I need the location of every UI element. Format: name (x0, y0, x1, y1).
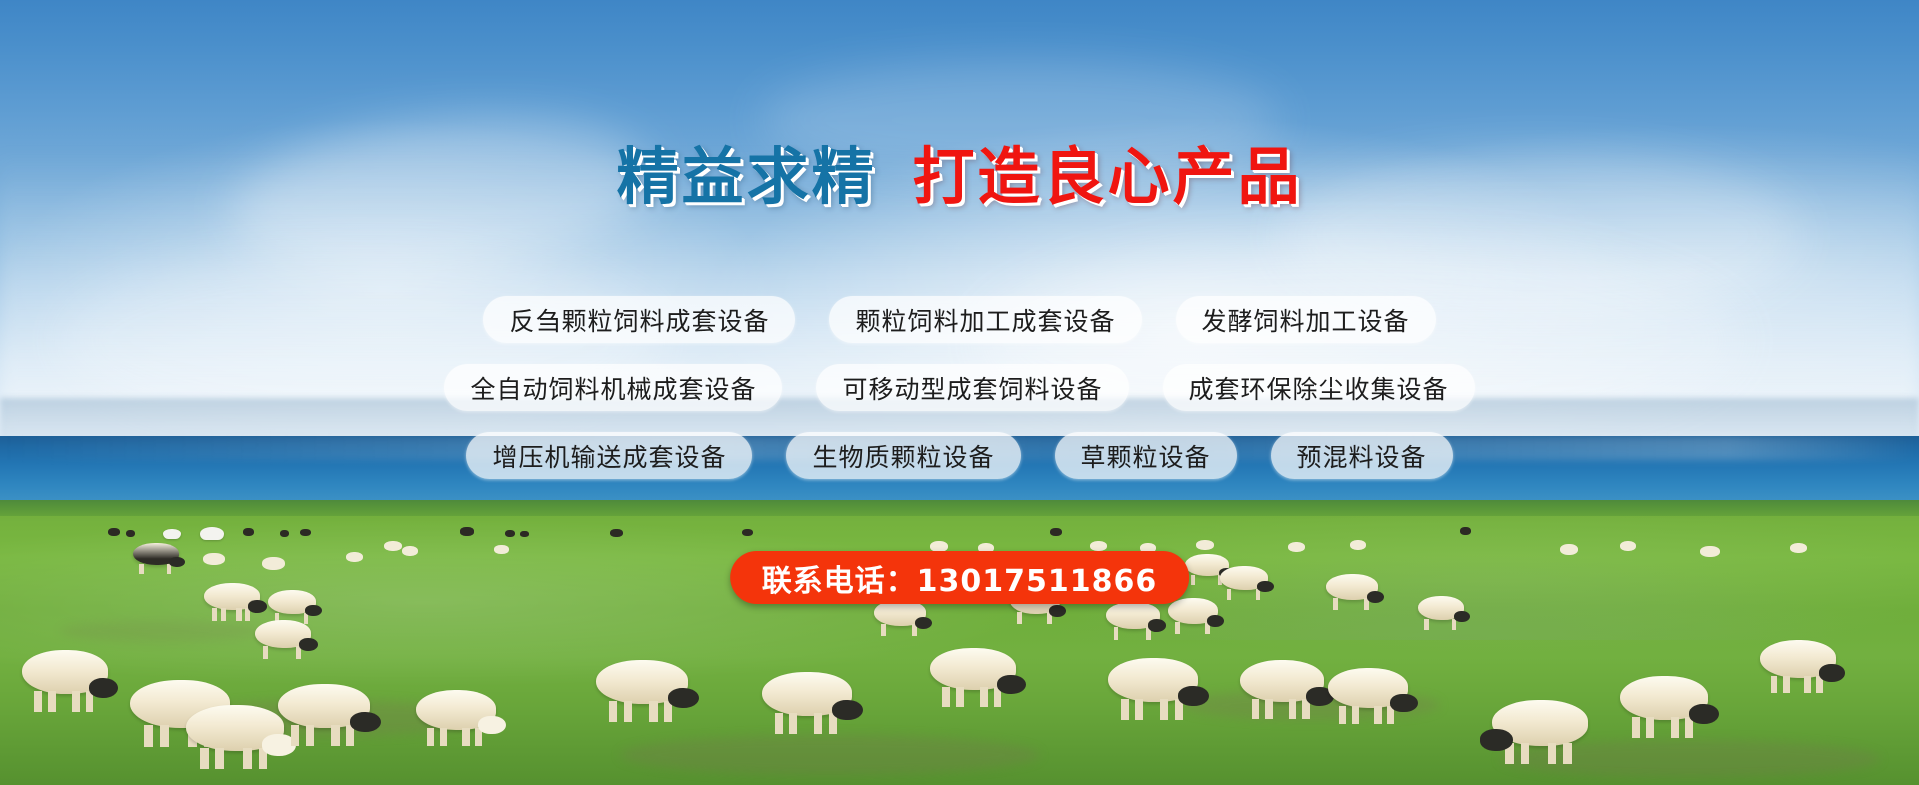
distant-sheep (346, 552, 363, 562)
dirt-patch (620, 735, 1040, 775)
distant-sheep (402, 546, 418, 556)
distant-livestock (742, 529, 753, 536)
product-tag[interactable]: 生物质颗粒设备 (786, 432, 1020, 479)
sheep (255, 620, 311, 648)
banner-headline: 精益求精打造良心产品 (0, 146, 1919, 208)
sheep (930, 648, 1016, 690)
distant-sheep (384, 541, 402, 551)
distant-sheep (1090, 541, 1107, 551)
sheep (1106, 602, 1160, 629)
distant-livestock (505, 530, 515, 537)
sheep (278, 684, 370, 728)
product-tag[interactable]: 草颗粒设备 (1055, 432, 1237, 479)
distant-livestock (460, 527, 474, 536)
dirt-patch (60, 620, 260, 642)
distant-livestock (243, 528, 254, 536)
sheep (22, 650, 108, 694)
contact-phone-bar[interactable]: 联系电话：13017511866 (730, 551, 1190, 604)
product-tag-list: 反刍颗粒饲料成套设备 颗粒饲料加工成套设备 发酵饲料加工设备 全自动饲料机械成套… (0, 296, 1919, 500)
product-tag-row: 全自动饲料机械成套设备 可移动型成套饲料设备 成套环保除尘收集设备 (0, 364, 1919, 411)
sheep (1620, 676, 1708, 720)
promo-banner: 精益求精打造良心产品 反刍颗粒饲料成套设备 颗粒饲料加工成套设备 发酵饲料加工设… (0, 0, 1919, 785)
yurt-tent (163, 529, 181, 539)
distant-livestock (300, 529, 311, 536)
contact-phone-text: 联系电话：13017511866 (762, 556, 1158, 600)
distant-sheep (262, 557, 285, 570)
yurt-tent (200, 527, 224, 540)
product-tag[interactable]: 全自动饲料机械成套设备 (444, 364, 782, 411)
distant-livestock (126, 530, 135, 537)
sheep (1326, 574, 1378, 600)
product-tag[interactable]: 可移动型成套饲料设备 (816, 364, 1128, 411)
sheep (1760, 640, 1836, 678)
distant-sheep (1700, 546, 1720, 557)
distant-livestock (1050, 528, 1062, 536)
sheep (204, 583, 260, 610)
sheep (596, 660, 688, 704)
distant-livestock (280, 530, 289, 537)
distant-livestock (108, 528, 120, 536)
sheep (1220, 566, 1268, 590)
distant-sheep (1790, 543, 1807, 553)
product-tag-row: 反刍颗粒饲料成套设备 颗粒饲料加工成套设备 发酵饲料加工设备 (0, 296, 1919, 343)
distant-sheep (1196, 540, 1214, 550)
headline-part-left: 精益求精 (616, 140, 876, 213)
sheep (1108, 658, 1198, 702)
product-tag[interactable]: 颗粒饲料加工成套设备 (829, 296, 1141, 343)
sheep (1168, 598, 1218, 624)
product-tag-row: 增压机输送成套设备 生物质颗粒设备 草颗粒设备 预混料设备 (0, 432, 1919, 479)
sheep (133, 543, 179, 565)
sheep (762, 672, 852, 716)
sheep (1418, 596, 1464, 620)
product-tag[interactable]: 增压机输送成套设备 (466, 432, 752, 479)
product-tag[interactable]: 预混料设备 (1271, 432, 1453, 479)
distant-livestock (610, 529, 623, 537)
distant-sheep (1620, 541, 1636, 551)
distant-sheep (203, 553, 225, 565)
product-tag[interactable]: 反刍颗粒饲料成套设备 (483, 296, 795, 343)
sheep (1328, 668, 1408, 708)
distant-sheep (1560, 544, 1578, 555)
shoreline-strip (0, 500, 1919, 516)
distant-sheep (1288, 542, 1305, 552)
distant-livestock (520, 531, 529, 537)
product-tag[interactable]: 发酵饲料加工设备 (1176, 296, 1436, 343)
distant-sheep (1350, 540, 1366, 550)
headline-part-right: 打造良心产品 (913, 140, 1303, 213)
sheep (1492, 700, 1588, 746)
sheep (268, 590, 316, 614)
product-tag[interactable]: 成套环保除尘收集设备 (1163, 364, 1475, 411)
distant-sheep (494, 545, 509, 554)
sheep (1240, 660, 1324, 702)
distant-livestock (1460, 527, 1471, 535)
sheep (186, 705, 284, 751)
sheep (416, 690, 496, 730)
